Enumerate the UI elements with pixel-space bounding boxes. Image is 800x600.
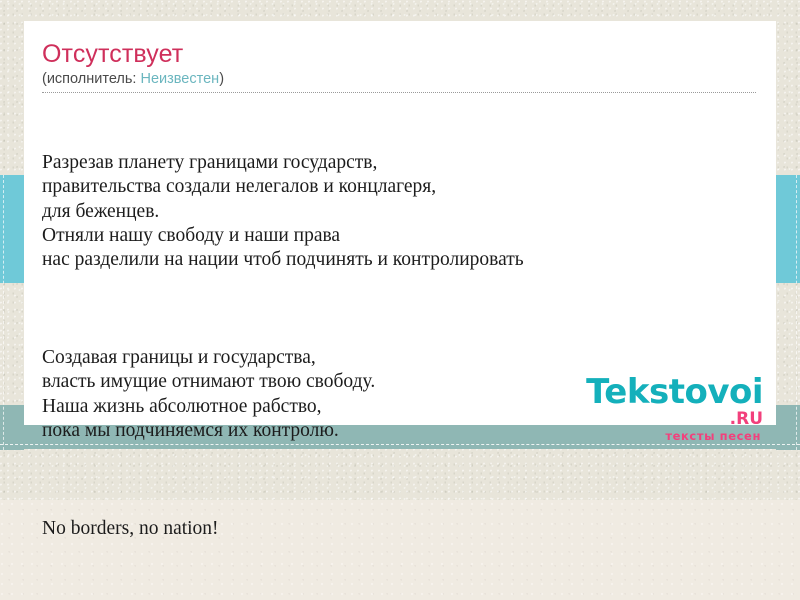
decorative-dashed-line-right — [796, 175, 797, 450]
lyrics-stanza: Разрезав планету границами государств, п… — [42, 151, 762, 273]
lyrics-stanza: No borders, no nation! — [42, 517, 762, 541]
title-divider — [42, 92, 756, 93]
lyrics-body: Разрезав планету границами государств, п… — [42, 102, 762, 590]
artist-line: (исполнитель: Неизвестен) — [42, 70, 762, 89]
lyrics-card-content: Отсутствует (исполнитель: Неизвестен) Ра… — [42, 39, 762, 590]
logo-wordmark: Tekstovoi.RU — [563, 375, 763, 429]
logo-name: Tekstovoi — [586, 375, 763, 409]
site-logo[interactable]: Tekstovoi.RU тексты песен — [563, 375, 763, 420]
logo-tagline: тексты песен — [563, 430, 763, 443]
page-title: Отсутствует — [42, 39, 762, 69]
artist-suffix: ) — [219, 71, 224, 87]
logo-tld: .RU — [730, 409, 763, 429]
decorative-dashed-line-left — [3, 175, 4, 450]
artist-link[interactable]: Неизвестен — [140, 71, 219, 87]
slide-canvas: Отсутствует (исполнитель: Неизвестен) Ра… — [0, 0, 800, 600]
artist-label: (исполнитель: — [42, 71, 140, 87]
lyrics-card: Отсутствует (исполнитель: Неизвестен) Ра… — [24, 21, 776, 425]
